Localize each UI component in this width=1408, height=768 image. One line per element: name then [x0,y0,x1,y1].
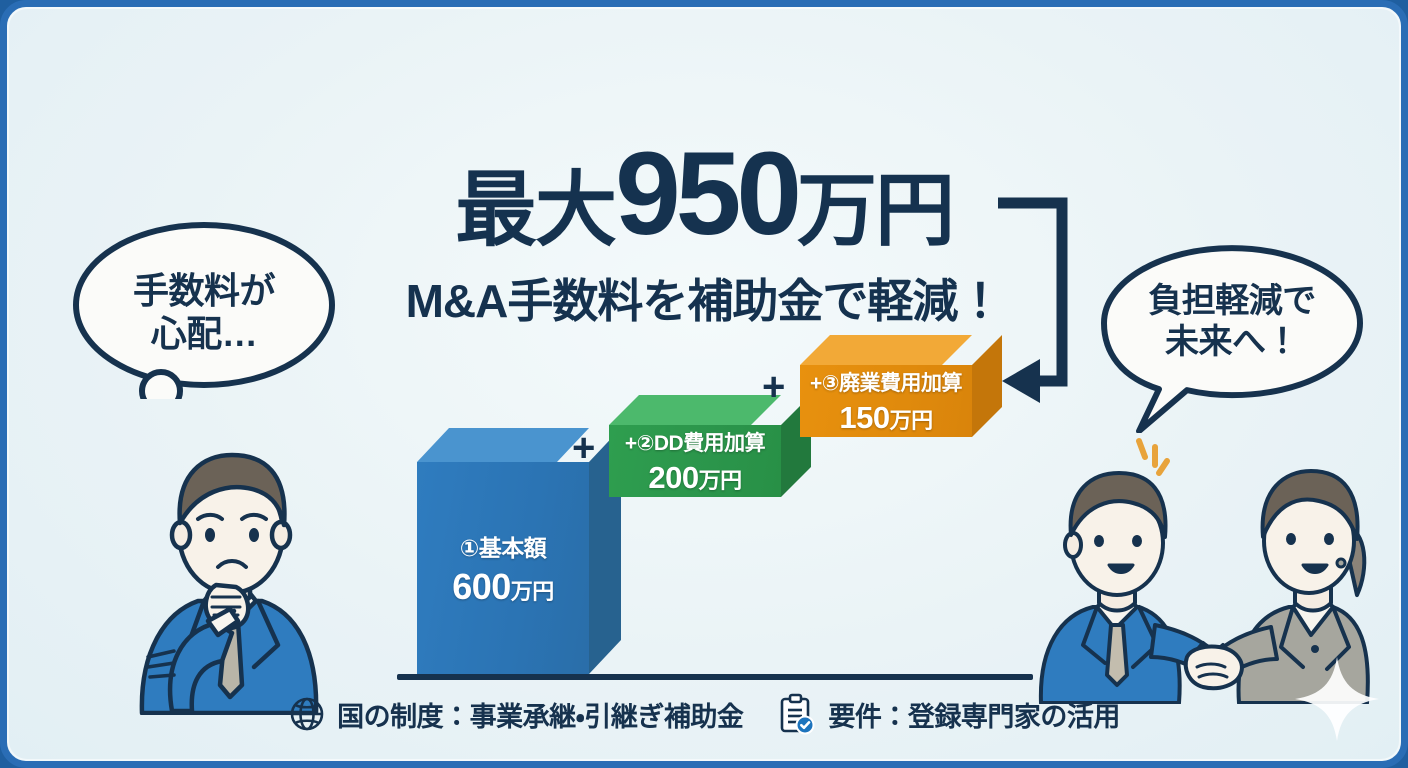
worried-businessman-illustration [112,415,342,715]
bar-base-front-face: ①基本額 600万円 [417,462,589,674]
bar-dd-surcharge: +②DD費用加算 200万円 [609,425,781,497]
bar-closure-surcharge: +③廃業費用加算 150万円 [800,365,972,437]
bar-dd-value: 200万円 [648,460,741,496]
bar-dd-value-unit: 万円 [699,468,742,493]
bar-dd-front-face: +②DD費用加算 200万円 [609,425,781,497]
worry-bubble-text: 手数料が 心配… [69,225,339,399]
clipboard-check-icon [777,693,817,735]
hope-bubble-line1: 負担軽減で [1148,281,1316,322]
bar-closure-label: +③廃業費用加算 [810,367,962,397]
footer-requirement-text: 要件：登録専門家の活用 [828,695,1120,734]
bar-base-value-number: 600 [452,566,511,607]
worry-bubble-line1: 手数料が [133,269,275,312]
bar-closure-top-face [800,335,972,365]
globe-icon [288,695,326,733]
hope-bubble-text: 負担軽減で 未来へ！ [1097,237,1367,407]
plus-sign-2: + [762,367,785,407]
bar-base-amount: ①基本額 600万円 [417,462,589,674]
worry-bubble: 手数料が 心配… [69,219,339,399]
bar-base-top-face [417,428,589,462]
headline-number: 950 [615,128,797,260]
infographic-frame: 最大950万円 M&A手数料を補助金で軽減！ ①基本額 600万円 + [0,0,1408,768]
bar-dd-side-face [781,395,811,497]
bar-closure-front-face: +③廃業費用加算 150万円 [800,365,972,437]
footer-item-program: 国の制度：事業承継・引継ぎ補助金 [288,695,743,734]
bar-base-value-unit: 万円 [511,579,554,604]
bar-closure-value: 150万円 [839,400,932,436]
bar-dd-value-number: 200 [648,460,698,495]
chart-baseline [397,674,1033,680]
bar-dd-top-face [609,395,781,425]
footer-notes: 国の制度：事業承継・引継ぎ補助金 要件：登録専門家の活用 [7,693,1401,735]
plus-sign-1: + [572,428,595,468]
total-bracket-arrow [992,195,1102,405]
hope-bubble: 負担軽減で 未来へ！ [1097,243,1367,407]
bar-base-label: ①基本額 [460,529,546,563]
headline-prefix: 最大 [455,165,615,256]
bar-base-value: 600万円 [452,566,554,608]
footer-item-requirement: 要件：登録専門家の活用 [777,693,1120,735]
bar-closure-value-number: 150 [839,400,889,435]
bar-closure-value-unit: 万円 [890,408,933,433]
hope-bubble-line2: 未来へ！ [1165,322,1299,363]
bar-dd-label: +②DD費用加算 [625,427,765,457]
headline-unit: 万円 [797,166,953,255]
footer-program-text: 国の制度：事業承継・引継ぎ補助金 [337,695,743,734]
bar-base-side-face [589,428,621,674]
sparkle-decoration-icon [1291,653,1383,745]
worry-bubble-line2: 心配… [151,312,258,355]
